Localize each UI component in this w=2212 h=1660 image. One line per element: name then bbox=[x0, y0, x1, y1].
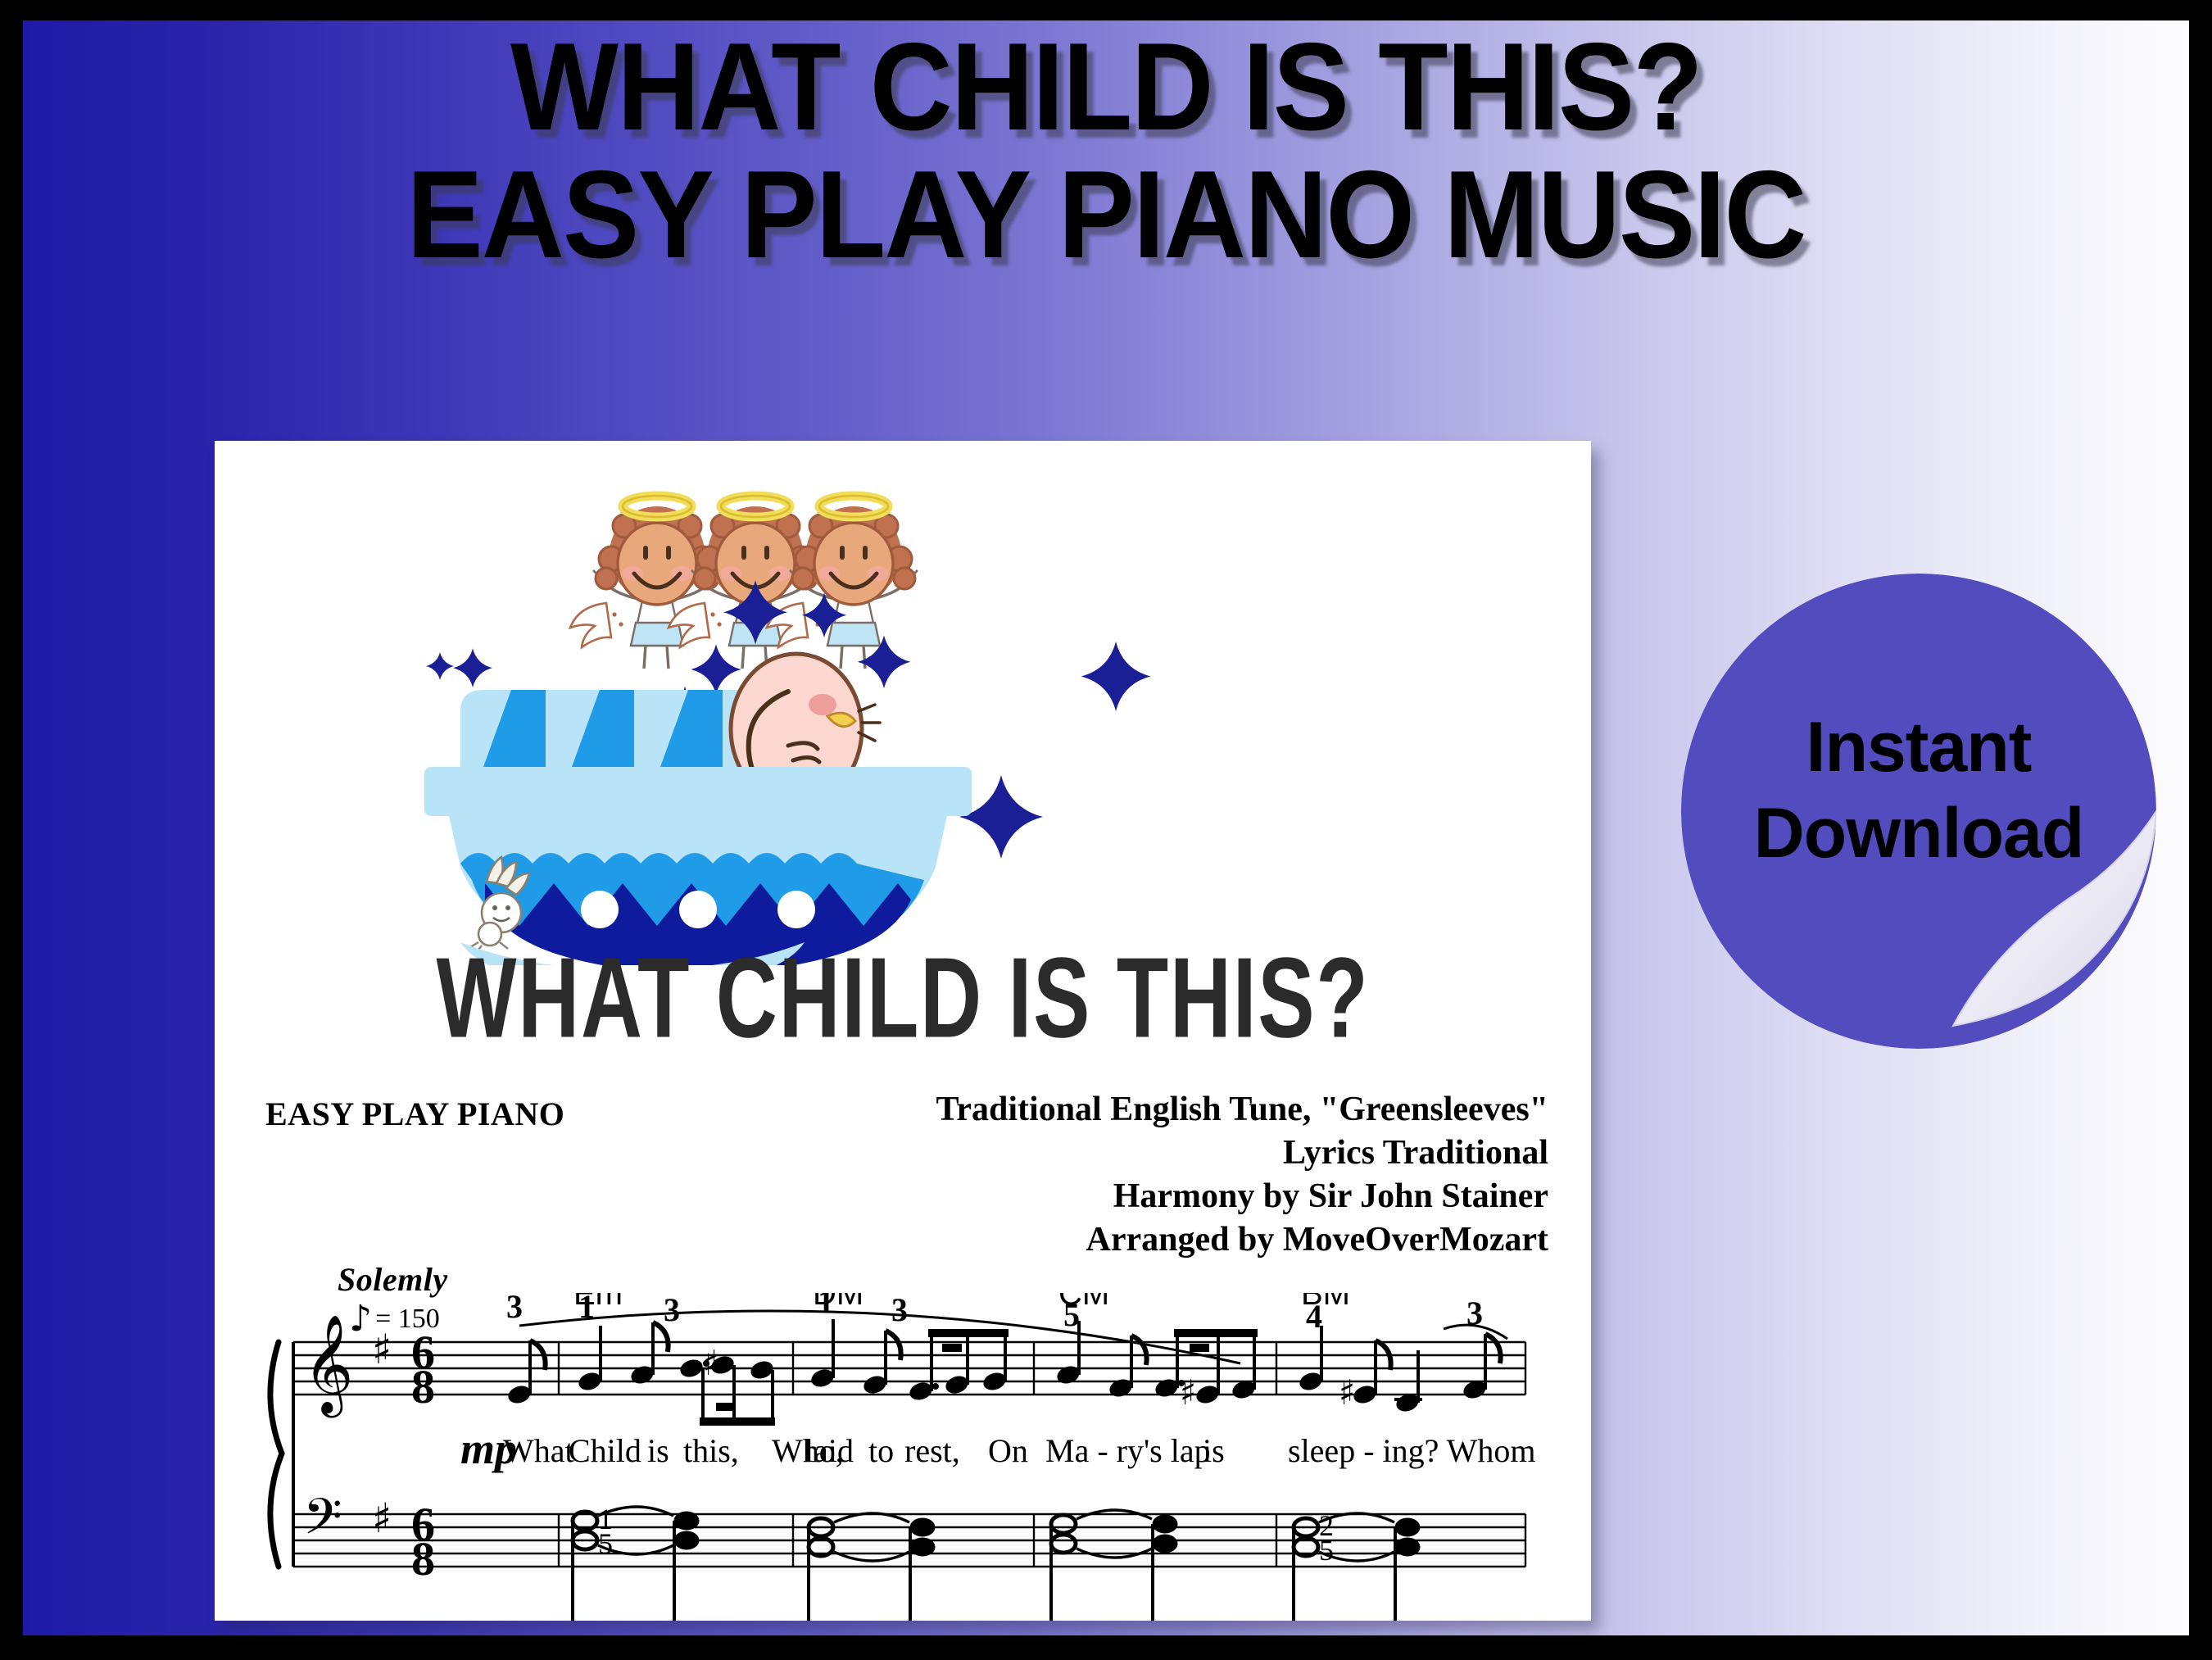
svg-text:5: 5 bbox=[598, 1527, 613, 1560]
svg-text:laid: laid bbox=[805, 1432, 854, 1469]
credit-right: Traditional English Tune, "Greensleeves"… bbox=[936, 1088, 1548, 1262]
svg-text:this,: this, bbox=[683, 1432, 739, 1469]
credit-left: EASY PLAY PIANO bbox=[265, 1095, 564, 1133]
angel-group bbox=[570, 496, 918, 669]
sheet-music-page: WHAT CHILD IS THIS? EASY PLAY PIANO Trad… bbox=[215, 441, 1591, 1621]
svg-text:𝄢: 𝄢 bbox=[303, 1488, 342, 1558]
svg-text:5: 5 bbox=[1319, 1534, 1334, 1567]
lyrics-row: What Child is this, Who, laid to rest, O… bbox=[503, 1432, 1536, 1469]
svg-text:3: 3 bbox=[891, 1293, 908, 1328]
illustration-angels-and-baby bbox=[215, 441, 1591, 965]
credit-block: EASY PLAY PIANO Traditional English Tune… bbox=[215, 1088, 1591, 1236]
svg-text:sleep - ing? Whom: sleep - ing? Whom bbox=[1288, 1432, 1536, 1469]
svg-text:Ma - ry's lap: Ma - ry's lap bbox=[1045, 1432, 1211, 1469]
credit-arranger: Arranged by MoveOverMozart bbox=[936, 1218, 1548, 1262]
svg-text:8: 8 bbox=[411, 1532, 435, 1585]
svg-text:is: is bbox=[647, 1432, 669, 1469]
svg-text:♯: ♯ bbox=[1180, 1372, 1196, 1413]
poster-canvas: WHAT CHILD IS THIS? EASY PLAY PIANO MUSI… bbox=[0, 0, 2212, 1660]
svg-text:to: to bbox=[868, 1432, 894, 1469]
svg-text:is: is bbox=[1203, 1432, 1225, 1469]
credit-tune: Traditional English Tune, "Greensleeves" bbox=[936, 1088, 1548, 1132]
svg-text:𝄞: 𝄞 bbox=[303, 1313, 353, 1417]
sheet-title: WHAT CHILD IS THIS? bbox=[297, 932, 1508, 1064]
svg-text:Child: Child bbox=[569, 1432, 641, 1469]
svg-text:1: 1 bbox=[578, 1293, 595, 1325]
credit-harmony: Harmony by Sir John Stainer bbox=[936, 1175, 1548, 1218]
svg-text:3: 3 bbox=[506, 1293, 523, 1325]
svg-text:rest,: rest, bbox=[904, 1432, 960, 1469]
svg-text:8: 8 bbox=[411, 1360, 435, 1413]
svg-text:3: 3 bbox=[1466, 1295, 1483, 1331]
credit-lyrics: Lyrics Traditional bbox=[936, 1132, 1548, 1175]
svg-text:1: 1 bbox=[818, 1293, 834, 1320]
svg-text:3: 3 bbox=[664, 1293, 680, 1328]
music-staff: 𝄞 𝄢 ♯ ♯ 6 8 6 8 Em DM CM BM bbox=[215, 1293, 1591, 1621]
svg-text:♯: ♯ bbox=[703, 1343, 719, 1383]
cradle bbox=[424, 654, 972, 965]
svg-text:♯: ♯ bbox=[372, 1494, 392, 1542]
svg-text:On: On bbox=[988, 1432, 1028, 1469]
svg-text:♯: ♯ bbox=[1339, 1372, 1355, 1413]
svg-text:What: What bbox=[503, 1432, 574, 1469]
instant-download-badge[interactable]: Instant Download bbox=[1681, 574, 2156, 1049]
svg-text:♯: ♯ bbox=[372, 1326, 392, 1373]
